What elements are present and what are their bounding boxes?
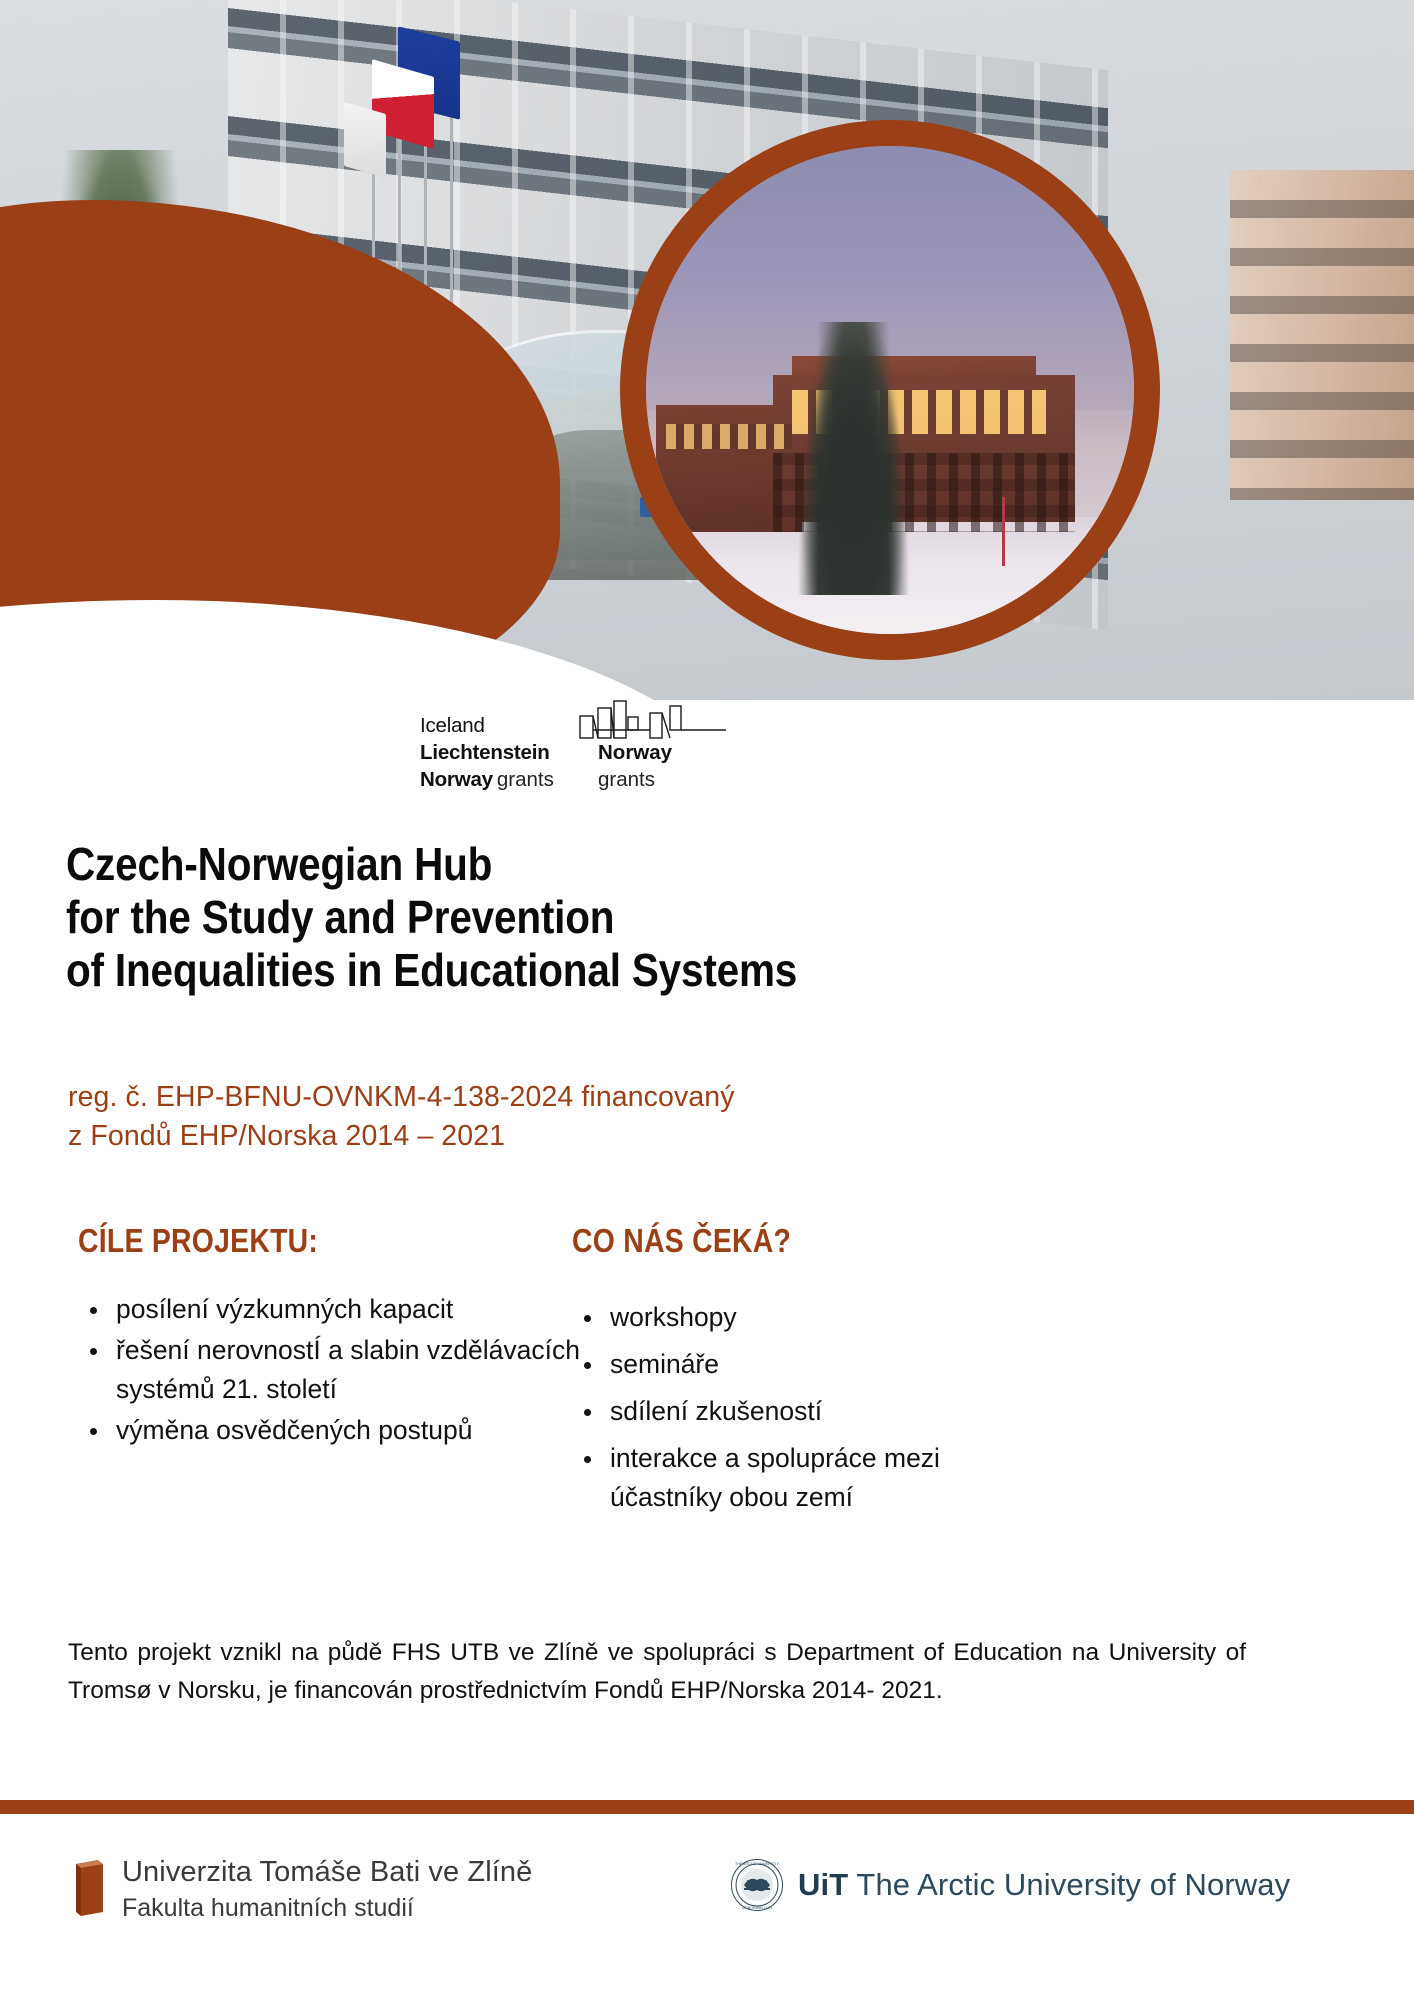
uit-seal-icon: THE ARCTIC UNIVERSITY OF NORWAY • UIT bbox=[730, 1858, 784, 1912]
list-item: workshopy bbox=[572, 1298, 1042, 1337]
svg-text:OF NORWAY • UIT: OF NORWAY • UIT bbox=[742, 1906, 773, 1910]
footer-divider bbox=[0, 1800, 1414, 1814]
grants-logo-iceland: Iceland bbox=[420, 712, 578, 739]
uit-logo-text: UiT The Arctic University of Norway bbox=[798, 1867, 1290, 1903]
norway-lit-windows-row bbox=[666, 424, 793, 448]
list-item: výměna osvědčených postupů bbox=[78, 1411, 588, 1450]
subtitle-line-1: reg. č. EHP-BFNU-OVNKM-4-138-2024 financ… bbox=[68, 1078, 968, 1117]
column-whats-ahead: CO NÁS ČEKÁ? workshopy semináře sdílení … bbox=[572, 1222, 1042, 1525]
header-photo-band bbox=[0, 0, 1414, 700]
grants-logo-grants-right: grants bbox=[598, 766, 718, 793]
university-flag bbox=[344, 102, 386, 178]
section-heading-whats-ahead: CO NÁS ČEKÁ? bbox=[572, 1222, 976, 1260]
list-item: interakce a spolupráce mezi účastníky ob… bbox=[572, 1439, 1042, 1517]
grants-logo-right-block: Norway grants bbox=[598, 739, 718, 793]
grants-logo-liechtenstein: Liechtenstein bbox=[420, 739, 578, 766]
grants-logo-norway-right: Norway bbox=[598, 739, 718, 766]
title-line-3: of Inequalities in Educational Systems bbox=[66, 944, 946, 997]
svg-text:THE ARCTIC UNIVERSITY: THE ARCTIC UNIVERSITY bbox=[735, 1862, 780, 1866]
poster-title: Czech-Norwegian Hub for the Study and Pr… bbox=[66, 838, 946, 997]
list-item: řešení nerovnostÍ a slabin vzdělávacích … bbox=[78, 1331, 588, 1409]
norway-spruce-tree bbox=[797, 322, 909, 595]
title-line-1: Czech-Norwegian Hub bbox=[66, 838, 946, 891]
utb-university-name: Univerzita Tomáše Bati ve Zlíně bbox=[122, 1854, 532, 1891]
column-project-goals: CÍLE PROJEKTU: posílení výzkumných kapac… bbox=[78, 1222, 588, 1452]
side-building-right bbox=[1230, 170, 1414, 500]
uit-brand: UiT bbox=[798, 1867, 848, 1902]
grants-logo-left-block: Iceland Liechtenstein Norway grants bbox=[420, 712, 578, 793]
section-heading-goals: CÍLE PROJEKTU: bbox=[78, 1222, 517, 1260]
eea-norway-grants-logo: Iceland Liechtenstein Norway grants Norw… bbox=[420, 700, 720, 820]
utb-logo: Univerzita Tomáše Bati ve Zlíně Fakulta … bbox=[72, 1854, 532, 1925]
project-description-paragraph: Tento projekt vznikl na půdě FHS UTB ve … bbox=[68, 1634, 1246, 1710]
norway-red-pole bbox=[1002, 497, 1005, 565]
norway-photo bbox=[646, 146, 1134, 634]
norway-photo-circle-frame bbox=[620, 120, 1160, 660]
uit-full-name: The Arctic University of Norway bbox=[848, 1867, 1290, 1902]
book-icon bbox=[72, 1858, 106, 1918]
goals-list: posílení výzkumných kapacit řešení nerov… bbox=[78, 1290, 588, 1450]
building-windows bbox=[1230, 170, 1414, 500]
title-line-2: for the Study and Prevention bbox=[66, 891, 946, 944]
subtitle-line-2: z Fondů EHP/Norska 2014 – 2021 bbox=[68, 1117, 968, 1156]
list-item: semináře bbox=[572, 1345, 1042, 1384]
footer: Univerzita Tomáše Bati ve Zlíně Fakulta … bbox=[0, 1840, 1414, 1960]
grants-logo-grants-word: grants bbox=[497, 768, 554, 792]
uit-logo: THE ARCTIC UNIVERSITY OF NORWAY • UIT Ui… bbox=[730, 1858, 1290, 1912]
grants-logo-norway: Norway bbox=[420, 766, 493, 793]
project-registration-subtitle: reg. č. EHP-BFNU-OVNKM-4-138-2024 financ… bbox=[68, 1078, 968, 1156]
list-item: sdílení zkušeností bbox=[572, 1392, 1042, 1431]
activities-list: workshopy semináře sdílení zkušeností in… bbox=[572, 1298, 1042, 1517]
utb-faculty-name: Fakulta humanitních studií bbox=[122, 1891, 532, 1925]
list-item: posílení výzkumných kapacit bbox=[78, 1290, 588, 1329]
utb-logo-text: Univerzita Tomáše Bati ve Zlíně Fakulta … bbox=[122, 1854, 532, 1925]
